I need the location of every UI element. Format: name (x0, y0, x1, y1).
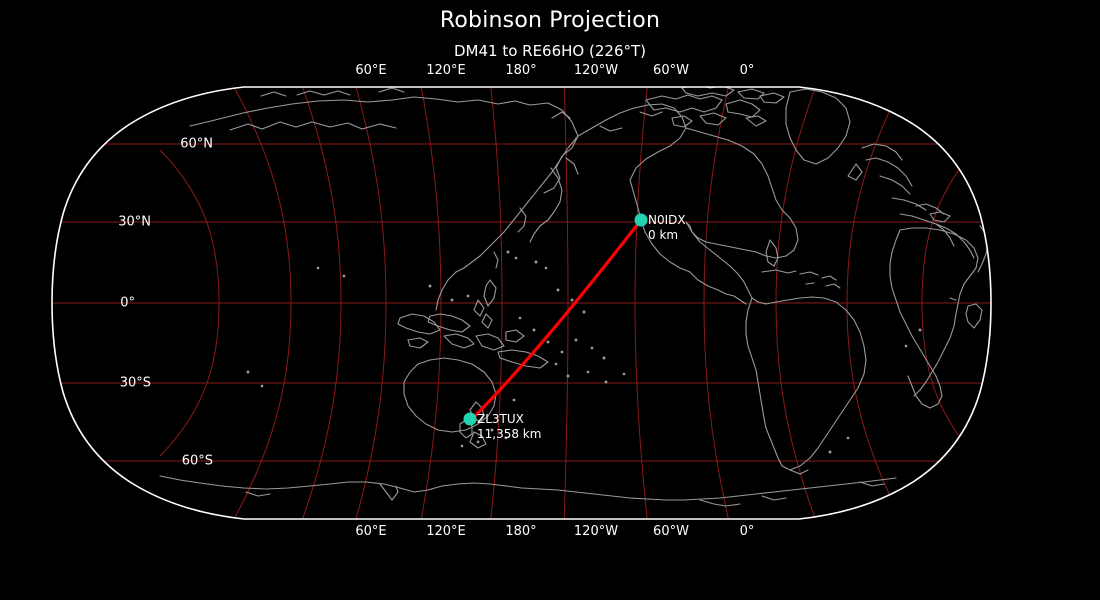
lat-tick-30s: 30°S (120, 376, 151, 391)
lon-tick-top-60w: 60°W (653, 63, 689, 78)
lon-tick-bottom-0: 0° (740, 524, 755, 539)
lon-tick-top-120e: 120°E (426, 63, 466, 78)
robinson-map-canvas[interactable] (0, 0, 1100, 600)
lon-tick-bottom-120w: 120°W (574, 524, 618, 539)
map-figure: Robinson Projection DM41 to RE66HO (226°… (0, 0, 1100, 600)
station-distance-n0idx: 0 km (648, 228, 686, 243)
lon-tick-top-120w: 120°W (574, 63, 618, 78)
lon-tick-bottom-120e: 120°E (426, 524, 466, 539)
lon-tick-top-60e: 60°E (355, 63, 386, 78)
station-callsign-zl3tux: ZL3TUX (477, 412, 541, 427)
lon-tick-bottom-180: 180° (505, 524, 536, 539)
station-callsign-n0idx: N0IDX (648, 213, 686, 228)
station-label-zl3tux: ZL3TUX 11,358 km (477, 412, 541, 442)
lon-tick-top-0: 0° (740, 63, 755, 78)
lat-tick-60n: 60°N (180, 137, 213, 152)
lon-tick-bottom-60e: 60°E (355, 524, 386, 539)
station-label-n0idx: N0IDX 0 km (648, 213, 686, 243)
lat-tick-30n: 30°N (118, 215, 151, 230)
lat-tick-0: 0° (120, 296, 135, 311)
lon-tick-bottom-60w: 60°W (653, 524, 689, 539)
station-marker-n0idx[interactable] (635, 214, 648, 227)
lon-tick-top-180: 180° (505, 63, 536, 78)
lat-tick-60s: 60°S (182, 454, 213, 469)
station-marker-zl3tux[interactable] (464, 413, 477, 426)
station-distance-zl3tux: 11,358 km (477, 427, 541, 442)
